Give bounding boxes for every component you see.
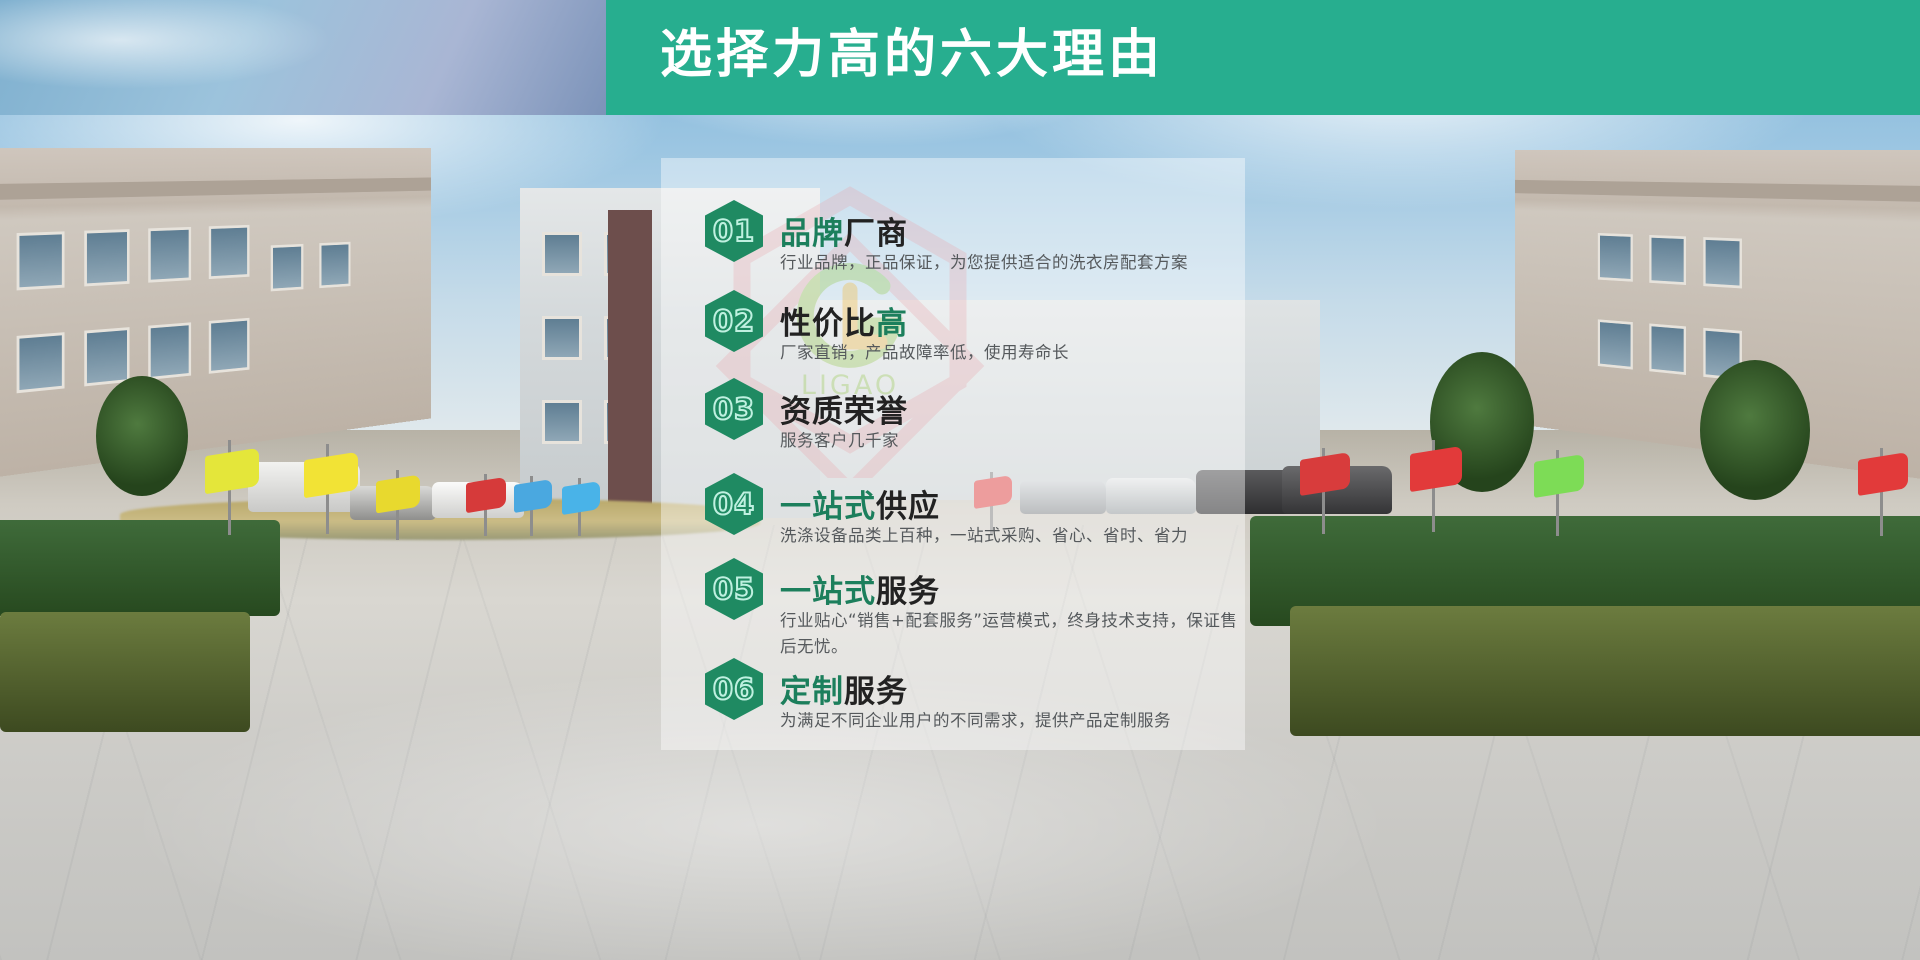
item-description: 洗涤设备品类上百种，一站式采购、省心、省时、省力 xyxy=(780,523,1240,549)
item-title: 性价比高 xyxy=(780,298,908,343)
badge-number: 03 xyxy=(713,392,755,426)
item-title: 定制服务 xyxy=(780,666,908,711)
page-title: 选择力高的六大理由 xyxy=(660,22,1164,88)
hedge-foreground-right xyxy=(1290,606,1920,736)
number-badge: 04 xyxy=(705,473,763,535)
number-badge: 06 xyxy=(705,658,763,720)
item-description: 行业贴心“销售+配套服务”运营模式，终身技术支持，保证售后无忧。 xyxy=(780,608,1240,660)
item-title-dark: 服务 xyxy=(844,674,908,710)
number-badge: 02 xyxy=(705,290,763,352)
badge-number: 05 xyxy=(713,572,755,606)
item-title: 一站式服务 xyxy=(780,566,940,611)
badge-number: 01 xyxy=(713,214,755,248)
center-building-accent xyxy=(608,210,652,510)
item-title: 资质荣誉 xyxy=(780,386,908,431)
item-description: 为满足不同企业用户的不同需求，提供产品定制服务 xyxy=(780,708,1240,734)
item-title-accent: 定制 xyxy=(780,674,844,710)
badge-number: 06 xyxy=(713,672,755,706)
tree-left xyxy=(96,376,188,496)
number-badge: 05 xyxy=(705,558,763,620)
number-badge: 03 xyxy=(705,378,763,440)
item-title-accent: 品牌 xyxy=(780,216,844,252)
item-title-dark: 厂商 xyxy=(844,216,908,252)
number-badge: 01 xyxy=(705,200,763,262)
item-title: 一站式供应 xyxy=(780,481,940,526)
hedge-left xyxy=(0,520,280,616)
item-title: 品牌厂商 xyxy=(780,208,908,253)
item-title-accent: 一站式 xyxy=(780,574,876,610)
item-title-accent: 高 xyxy=(876,306,908,342)
banner-stage: 选择力高的六大理由 LIGAO 01 品牌厂商 行业品牌，正品保证，为您提供适合… xyxy=(0,0,1920,960)
badge-number: 04 xyxy=(713,487,755,521)
item-title-dark: 供应 xyxy=(876,489,940,525)
item-title-dark: 服务 xyxy=(876,574,940,610)
item-title-accent: 一站式 xyxy=(780,489,876,525)
header-left-sky-strip xyxy=(0,0,606,115)
badge-number: 02 xyxy=(713,304,755,338)
item-description: 服务客户几千家 xyxy=(780,428,1240,454)
item-title-dark: 性价比 xyxy=(780,306,876,342)
item-description: 厂家直销，产品故障率低，使用寿命长 xyxy=(780,340,1240,366)
item-title-dark: 资质荣誉 xyxy=(780,394,908,430)
tree-far-right xyxy=(1700,360,1810,500)
hedge-foreground-left xyxy=(0,612,250,732)
item-description: 行业品牌，正品保证，为您提供适合的洗衣房配套方案 xyxy=(780,250,1240,276)
reasons-list: 01 品牌厂商 行业品牌，正品保证，为您提供适合的洗衣房配套方案 02 性价比高… xyxy=(661,158,1245,750)
